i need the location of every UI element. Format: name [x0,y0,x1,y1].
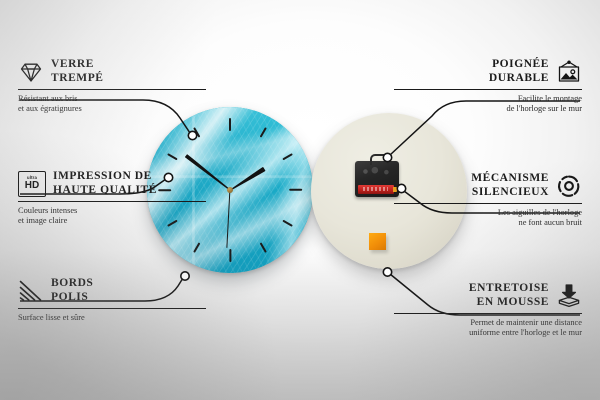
feature-header: ENTRETOISEEN MOUSSE [394,282,582,309]
connector-dot-entretoise [383,268,391,276]
quartz-mechanism [355,161,399,197]
feature-impression-haute-qualite: ultra HD IMPRESSION DEHAUTE QUALITÉ Coul… [18,170,206,227]
feature-divider [18,89,206,90]
battery [358,185,394,194]
feature-verre-trempe: VERRETREMPÉ Résistant aux briset aux égr… [18,58,206,115]
feature-title: VERRETREMPÉ [51,58,104,85]
feature-bords-polis: BORDSPOLIS Surface lisse et sûre [18,277,206,323]
feature-description: Résistant aux briset aux égratignures [18,94,206,115]
feature-title: BORDSPOLIS [51,277,93,304]
ultra-hd-badge-icon: ultra HD [18,171,46,197]
clock-center-cap [227,187,233,193]
picture-frame-hanger-icon [556,59,582,85]
diamond-icon [18,59,44,85]
diagonal-lines-icon [18,278,44,304]
arrow-onto-foam-icon [556,283,582,309]
feature-description: Couleurs intenseset image claire [18,206,206,227]
feature-header: POIGNÉEDURABLE [394,58,582,85]
feature-divider [18,308,206,309]
feature-entretoise-en-mousse: ENTRETOISEEN MOUSSE Permet de maintenir … [394,282,582,339]
feature-divider [394,313,582,314]
feature-divider [394,89,582,90]
feature-title: IMPRESSION DEHAUTE QUALITÉ [53,170,157,197]
feature-mecanisme-silencieux: MÉCANISMESILENCIEUX Les aiguilles de l'h… [394,172,582,229]
feature-title: ENTRETOISEEN MOUSSE [469,282,549,309]
feature-title: POIGNÉEDURABLE [489,58,549,85]
feature-description: Les aiguilles de l'horlogene font aucun … [394,208,582,229]
feature-title: MÉCANISMESILENCIEUX [471,172,549,199]
feature-divider [394,203,582,204]
feature-header: BORDSPOLIS [18,277,206,304]
feature-header: VERRETREMPÉ [18,58,206,85]
second-hand [226,190,230,248]
hanger-bracket-icon [370,154,389,165]
feature-description: Permet de maintenir une distanceuniforme… [394,318,582,339]
gear-icon [556,173,582,199]
feature-poignee-durable: POIGNÉEDURABLE Facilite le montagede l'h… [394,58,582,115]
feature-header: MÉCANISMESILENCIEUX [394,172,582,199]
feature-description: Facilite le montagede l'horloge sur le m… [394,94,582,115]
feature-description: Surface lisse et sûre [18,313,206,323]
feature-header: ultra HD IMPRESSION DEHAUTE QUALITÉ [18,170,206,197]
foam-spacer [369,233,386,250]
feature-divider [18,201,206,202]
hour-hand [229,167,266,192]
mechanism-housing-detail [359,165,395,178]
infographic-canvas: VERRETREMPÉ Résistant aux briset aux égr… [0,0,600,400]
